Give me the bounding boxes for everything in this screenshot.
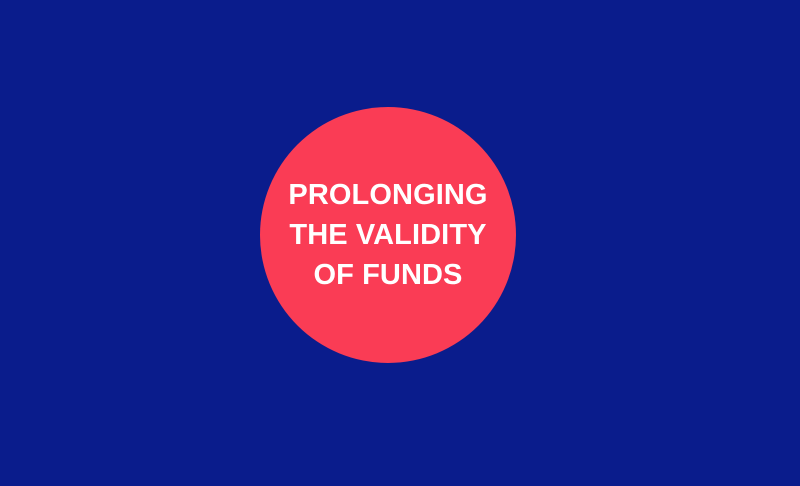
title-circle-badge: PROLONGING THE VALIDITY OF FUNDS — [260, 107, 516, 363]
slide-title-line-3: OF FUNDS — [268, 255, 508, 295]
slide-title: PROLONGING THE VALIDITY OF FUNDS — [268, 175, 508, 295]
slide-title-line-2: THE VALIDITY — [268, 215, 508, 255]
slide-canvas: PROLONGING THE VALIDITY OF FUNDS — [0, 0, 800, 486]
slide-title-line-1: PROLONGING — [268, 175, 508, 215]
